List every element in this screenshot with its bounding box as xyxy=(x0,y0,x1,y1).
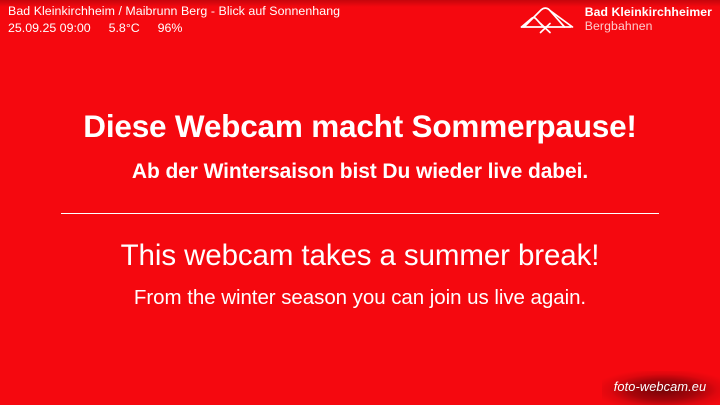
webcam-placeholder-frame: Bad Kleinkirchheim / Maibrunn Berg - Bli… xyxy=(0,0,720,405)
message-english-headline: This webcam takes a summer break! xyxy=(121,241,600,272)
message-german-headline: Diese Webcam macht Sommerpause! xyxy=(83,110,636,143)
message-divider xyxy=(61,213,659,214)
message-german-subheadline: Ab der Wintersaison bist Du wieder live … xyxy=(132,160,588,183)
provider-watermark-label: foto-webcam.eu xyxy=(614,379,708,398)
provider-watermark[interactable]: foto-webcam.eu xyxy=(602,371,720,405)
message-english-subheadline: From the winter season you can join us l… xyxy=(134,287,586,310)
summer-break-message: Diese Webcam macht Sommerpause! Ab der W… xyxy=(0,0,720,405)
